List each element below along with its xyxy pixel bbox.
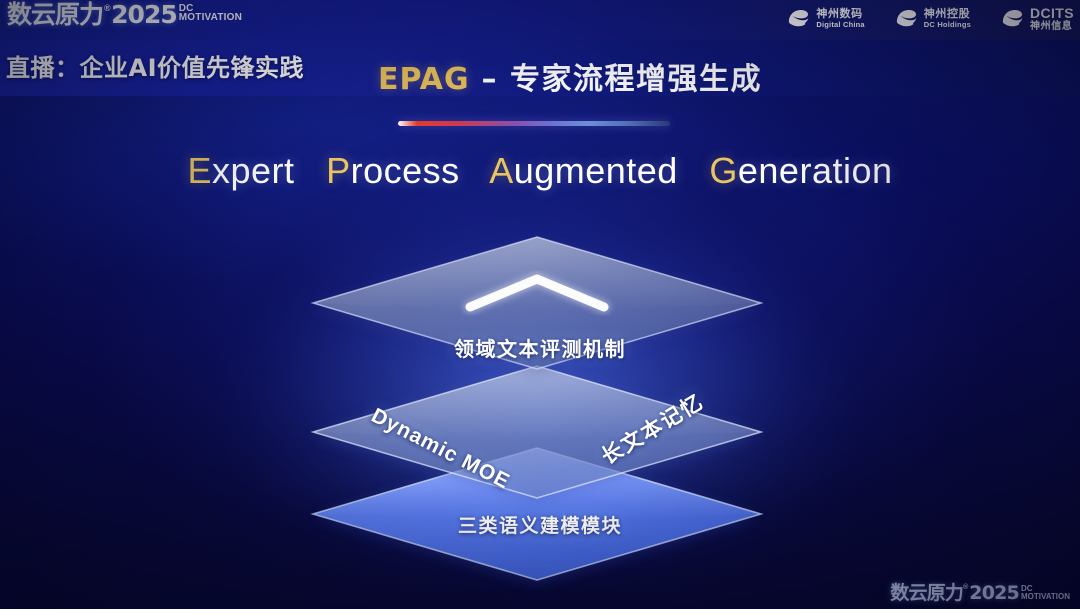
partner-logo-dcits: 神州信息 DCITS	[999, 4, 1074, 32]
layer-label-dynamic-moe: Dynamic MOE	[367, 404, 514, 494]
event-logo: 数云原力 ® 2025 DC MOTIVATION	[7, 2, 242, 28]
word-initial: G	[709, 150, 738, 191]
swirl-logo-icon	[999, 5, 1025, 31]
word-rest: eneration	[738, 150, 893, 191]
word-generation: Generation	[709, 150, 892, 191]
word-process: Process	[326, 150, 460, 191]
word-rest: xpert	[212, 150, 295, 191]
partner-name-cn: 神州数码	[816, 8, 864, 19]
swirl-logo-icon	[893, 5, 919, 31]
word-augmented: Augmented	[489, 150, 678, 191]
watermark-logo: 数云原力 ® 2025 DC MOTIVATION	[890, 583, 1070, 603]
page-title: EPAG – 专家流程增强生成	[0, 54, 1080, 98]
partner-name-cn: 神州信息	[1030, 22, 1074, 32]
partner-name-en: Digital China	[816, 21, 864, 29]
space	[688, 150, 699, 191]
word-expert: Expert	[187, 150, 294, 191]
space	[470, 150, 481, 191]
event-logo-year: 2025	[111, 2, 177, 28]
watermark-registered: ®	[963, 583, 968, 592]
word-initial: P	[326, 150, 351, 191]
title-abbr: EPAG	[378, 62, 470, 97]
event-logo-cn: 数云原力	[7, 2, 103, 28]
space	[305, 150, 316, 191]
chevron-up-icon	[470, 279, 604, 307]
title-separator: –	[470, 62, 510, 97]
event-logo-motivation: MOTIVATION	[179, 13, 242, 22]
word-initial: A	[489, 150, 514, 191]
word-rest: rocess	[351, 150, 460, 191]
title-divider	[398, 121, 670, 126]
watermark-motivation: MOTIVATION	[1021, 593, 1070, 601]
event-logo-registered: ®	[104, 2, 110, 14]
partner-name-en: DC Holdings	[924, 21, 971, 29]
word-rest: ugmented	[514, 150, 678, 191]
watermark-cn: 数云原力	[890, 583, 963, 603]
partner-logo-text: 神州控股 DC Holdings	[924, 8, 971, 29]
layer-label-bottom: 三类语义建模模块	[0, 511, 1080, 538]
partner-logo-group: 神州数码 Digital China 神州控股 DC Holdings	[785, 4, 1074, 32]
slide-canvas: 数云原力 ® 2025 DC MOTIVATION 直播：企业AI价值先锋实践 …	[0, 0, 1080, 609]
partner-logo-dc-holdings: 神州控股 DC Holdings	[893, 5, 971, 31]
watermark-year: 2025	[969, 583, 1019, 603]
partner-logo-text: 神州信息 DCITS	[1030, 4, 1074, 32]
swirl-logo-icon	[785, 5, 811, 31]
layer-label-long-text-memory: 长文本记忆	[595, 386, 709, 471]
partner-name-cn: 神州控股	[924, 8, 971, 19]
title-cn: 专家流程增强生成	[510, 62, 762, 97]
layer-label-top: 领域文本评测机制	[0, 333, 1080, 362]
event-logo-dc-motivation: DC MOTIVATION	[179, 4, 242, 22]
partner-logo-text: 神州数码 Digital China	[816, 8, 864, 29]
word-initial: E	[187, 150, 212, 191]
title-english-expansion: Expert Process Augmented Generation	[0, 150, 1080, 192]
watermark-dc-motivation: DC MOTIVATION	[1021, 585, 1070, 601]
partner-logo-digital-china: 神州数码 Digital China	[785, 5, 864, 31]
partner-name-en: DCITS	[1030, 6, 1074, 20]
